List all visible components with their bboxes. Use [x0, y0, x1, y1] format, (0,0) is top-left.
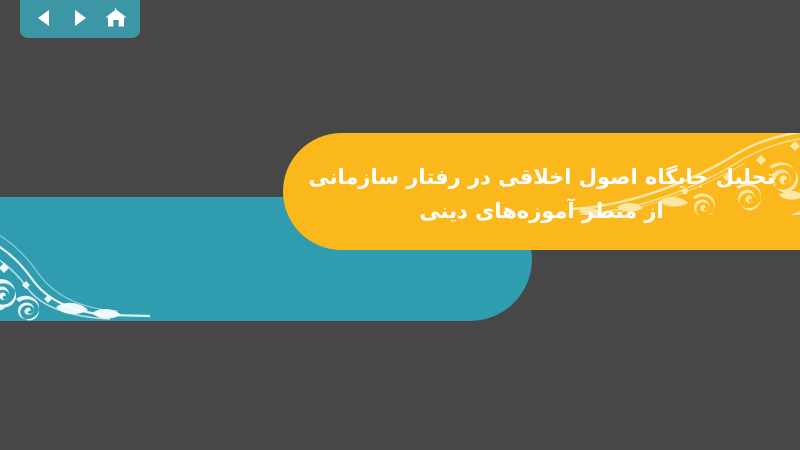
slide-title-line-1: تحلیل جایگاه اصول اخلاقی در رفتار سازمان…: [308, 160, 774, 194]
slide-title-line-2: از منطر آموزه‌های دینی: [419, 194, 663, 228]
triangle-left-icon: [34, 8, 54, 28]
house-icon: [104, 6, 128, 30]
slide-title: تحلیل جایگاه اصول اخلاقی در رفتار سازمان…: [283, 133, 800, 250]
arabesque-ornament-bottom-left: [0, 203, 150, 321]
next-slide-button[interactable]: [67, 5, 93, 31]
slide-navigation-bar: [20, 0, 140, 38]
home-button[interactable]: [103, 5, 129, 31]
triangle-right-icon: [70, 8, 90, 28]
previous-slide-button[interactable]: [31, 5, 57, 31]
slide-canvas: تحلیل جایگاه اصول اخلاقی در رفتار سازمان…: [0, 0, 800, 450]
